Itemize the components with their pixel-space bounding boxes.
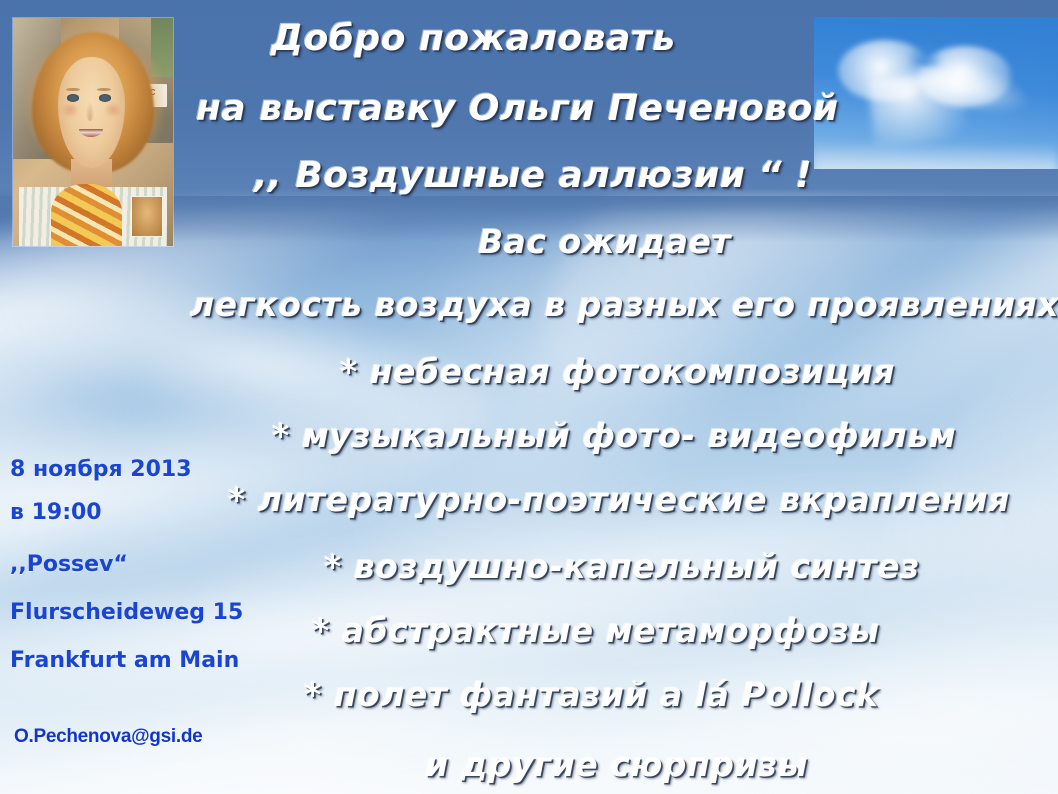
event-city: Frankfurt am Main: [10, 648, 239, 673]
heading-line-1: Добро пожаловать: [271, 18, 676, 59]
contact-email[interactable]: O.Pechenova@gsi.de: [14, 726, 202, 748]
event-street: Flurscheideweg 15: [10, 600, 243, 625]
body-line-pollock: * полет фантазий а lá Pollock: [304, 675, 879, 714]
event-date: 8 ноября 2013: [10, 457, 192, 482]
heading-line-2: на выставку Ольги Печеновой: [196, 88, 839, 129]
heart-shape: [838, 35, 1019, 144]
body-line-photo-composition: * небесная фотокомпозиция: [340, 352, 895, 391]
body-line-musical-film: * музыкальный фото- видеофильм: [272, 416, 956, 455]
portrait-photo: TED C: [13, 18, 173, 246]
body-line-awaits: Вас ожидает: [478, 222, 731, 261]
body-line-literary-poetic: * литературно-поэтические вкрапления: [228, 480, 1010, 519]
event-time: в 19:00: [10, 500, 102, 525]
poster-slide: TED C Добро пожаловать на выставку Ольги…: [0, 0, 1058, 794]
heading-line-3: ,, Воздушные аллюзии “ !: [254, 155, 812, 196]
body-line-other-surprises: и другие сюрпризы: [425, 745, 808, 784]
event-venue: ,,Possev“: [10, 552, 128, 577]
portrait-inset-photo: [131, 196, 163, 237]
body-line-droplet-synthesis: * воздушно-капельный синтез: [324, 547, 920, 586]
body-line-abstract-metamorphoses: * абстрактные метаморфозы: [312, 611, 880, 650]
heart-cloud-photo: [814, 17, 1058, 169]
body-line-lightness: легкость воздуха в разных его проявления…: [190, 285, 1058, 324]
